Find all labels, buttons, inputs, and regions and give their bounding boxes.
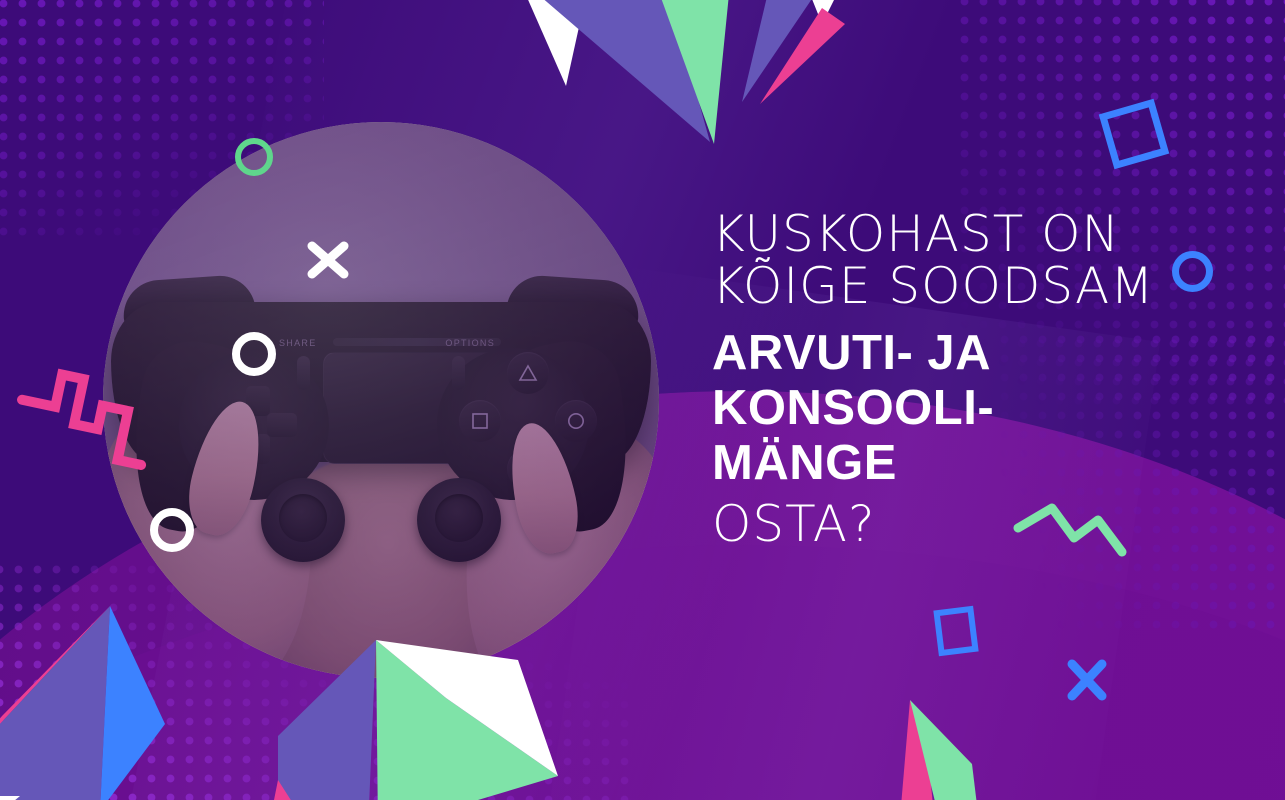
photo-purple-tint-radial: [103, 122, 659, 678]
headline-tail: OSTA?: [712, 497, 1212, 551]
headline-block: KUSKOHAST ON KÕIGE SOODSAM ARVUTI- JA KO…: [712, 208, 1212, 551]
headline-light: KUSKOHAST ON KÕIGE SOODSAM: [712, 208, 1212, 312]
blue-square-outline-icon: [1098, 98, 1174, 174]
headline-bold: ARVUTI- JA KONSOOLI- MÄNGE: [712, 326, 1212, 491]
headline-bold-line-3: MÄNGE: [712, 436, 1212, 491]
pyramid-bottom-left: [0, 596, 200, 800]
white-circle-outline-top-icon: [232, 332, 276, 376]
promo-banner: SHARE OPTIONS: [0, 0, 1285, 800]
shard-bottom-right: [860, 690, 1060, 800]
white-circle-outline-bottom-icon: [150, 508, 194, 552]
white-x-mark-icon: [300, 232, 358, 290]
gamepad-photo-circle: SHARE OPTIONS: [103, 122, 659, 678]
blue-square-outline-bottom-icon: [930, 602, 984, 662]
headline-light-line-1: KUSKOHAST ON: [712, 208, 1212, 260]
blue-x-mark-icon: [1058, 652, 1116, 710]
headline-bold-line-1: ARVUTI- JA: [712, 326, 1212, 381]
pink-step-line-icon: [14, 368, 164, 478]
pyramid-bottom-center: [268, 640, 608, 800]
headline-light-line-2: KÕIGE SOODSAM: [712, 260, 1212, 312]
headline-bold-line-2: KONSOOLI-: [712, 381, 1212, 436]
green-circle-outline-icon: [235, 138, 273, 176]
